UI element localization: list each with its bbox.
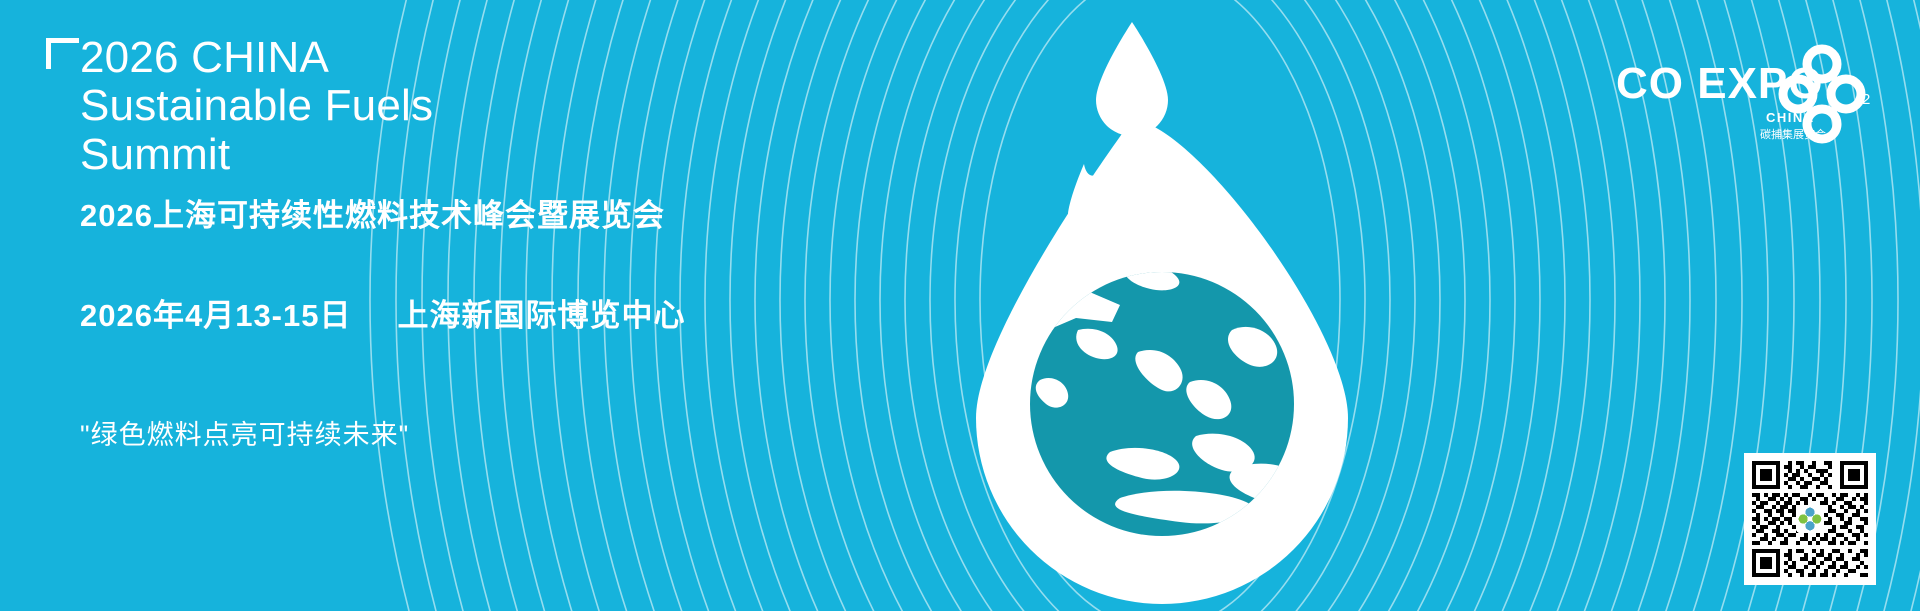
- title-chinese: 2026上海可持续性燃料技术峰会暨展览会: [80, 197, 900, 234]
- qr-code-icon[interactable]: [1744, 453, 1876, 585]
- co-expo-logo: CO EXPO 2 CHINA 碳捕集展览会: [1616, 42, 1884, 146]
- event-venue: 上海新国际博览中心: [398, 290, 686, 335]
- event-tagline: "绿色燃料点亮可持续未来": [80, 413, 900, 452]
- headline-block: 2026 CHINA Sustainable Fuels Summit 2026…: [80, 34, 900, 452]
- event-banner: 2026 CHINA Sustainable Fuels Summit 2026…: [0, 0, 1920, 611]
- event-info-row: 2026年4月13-15日 上海新国际博览中心: [80, 290, 900, 335]
- title-english: 2026 CHINA Sustainable Fuels Summit: [80, 34, 900, 179]
- droplet-artwork: [880, 0, 1440, 611]
- logo-region-cn: 碳捕集展览会: [1760, 127, 1826, 141]
- corner-bracket-icon: [46, 38, 79, 69]
- logo-region: CHINA: [1766, 110, 1815, 125]
- event-date: 2026年4月13-15日: [80, 290, 352, 335]
- logo-subscript: 2: [1862, 91, 1870, 108]
